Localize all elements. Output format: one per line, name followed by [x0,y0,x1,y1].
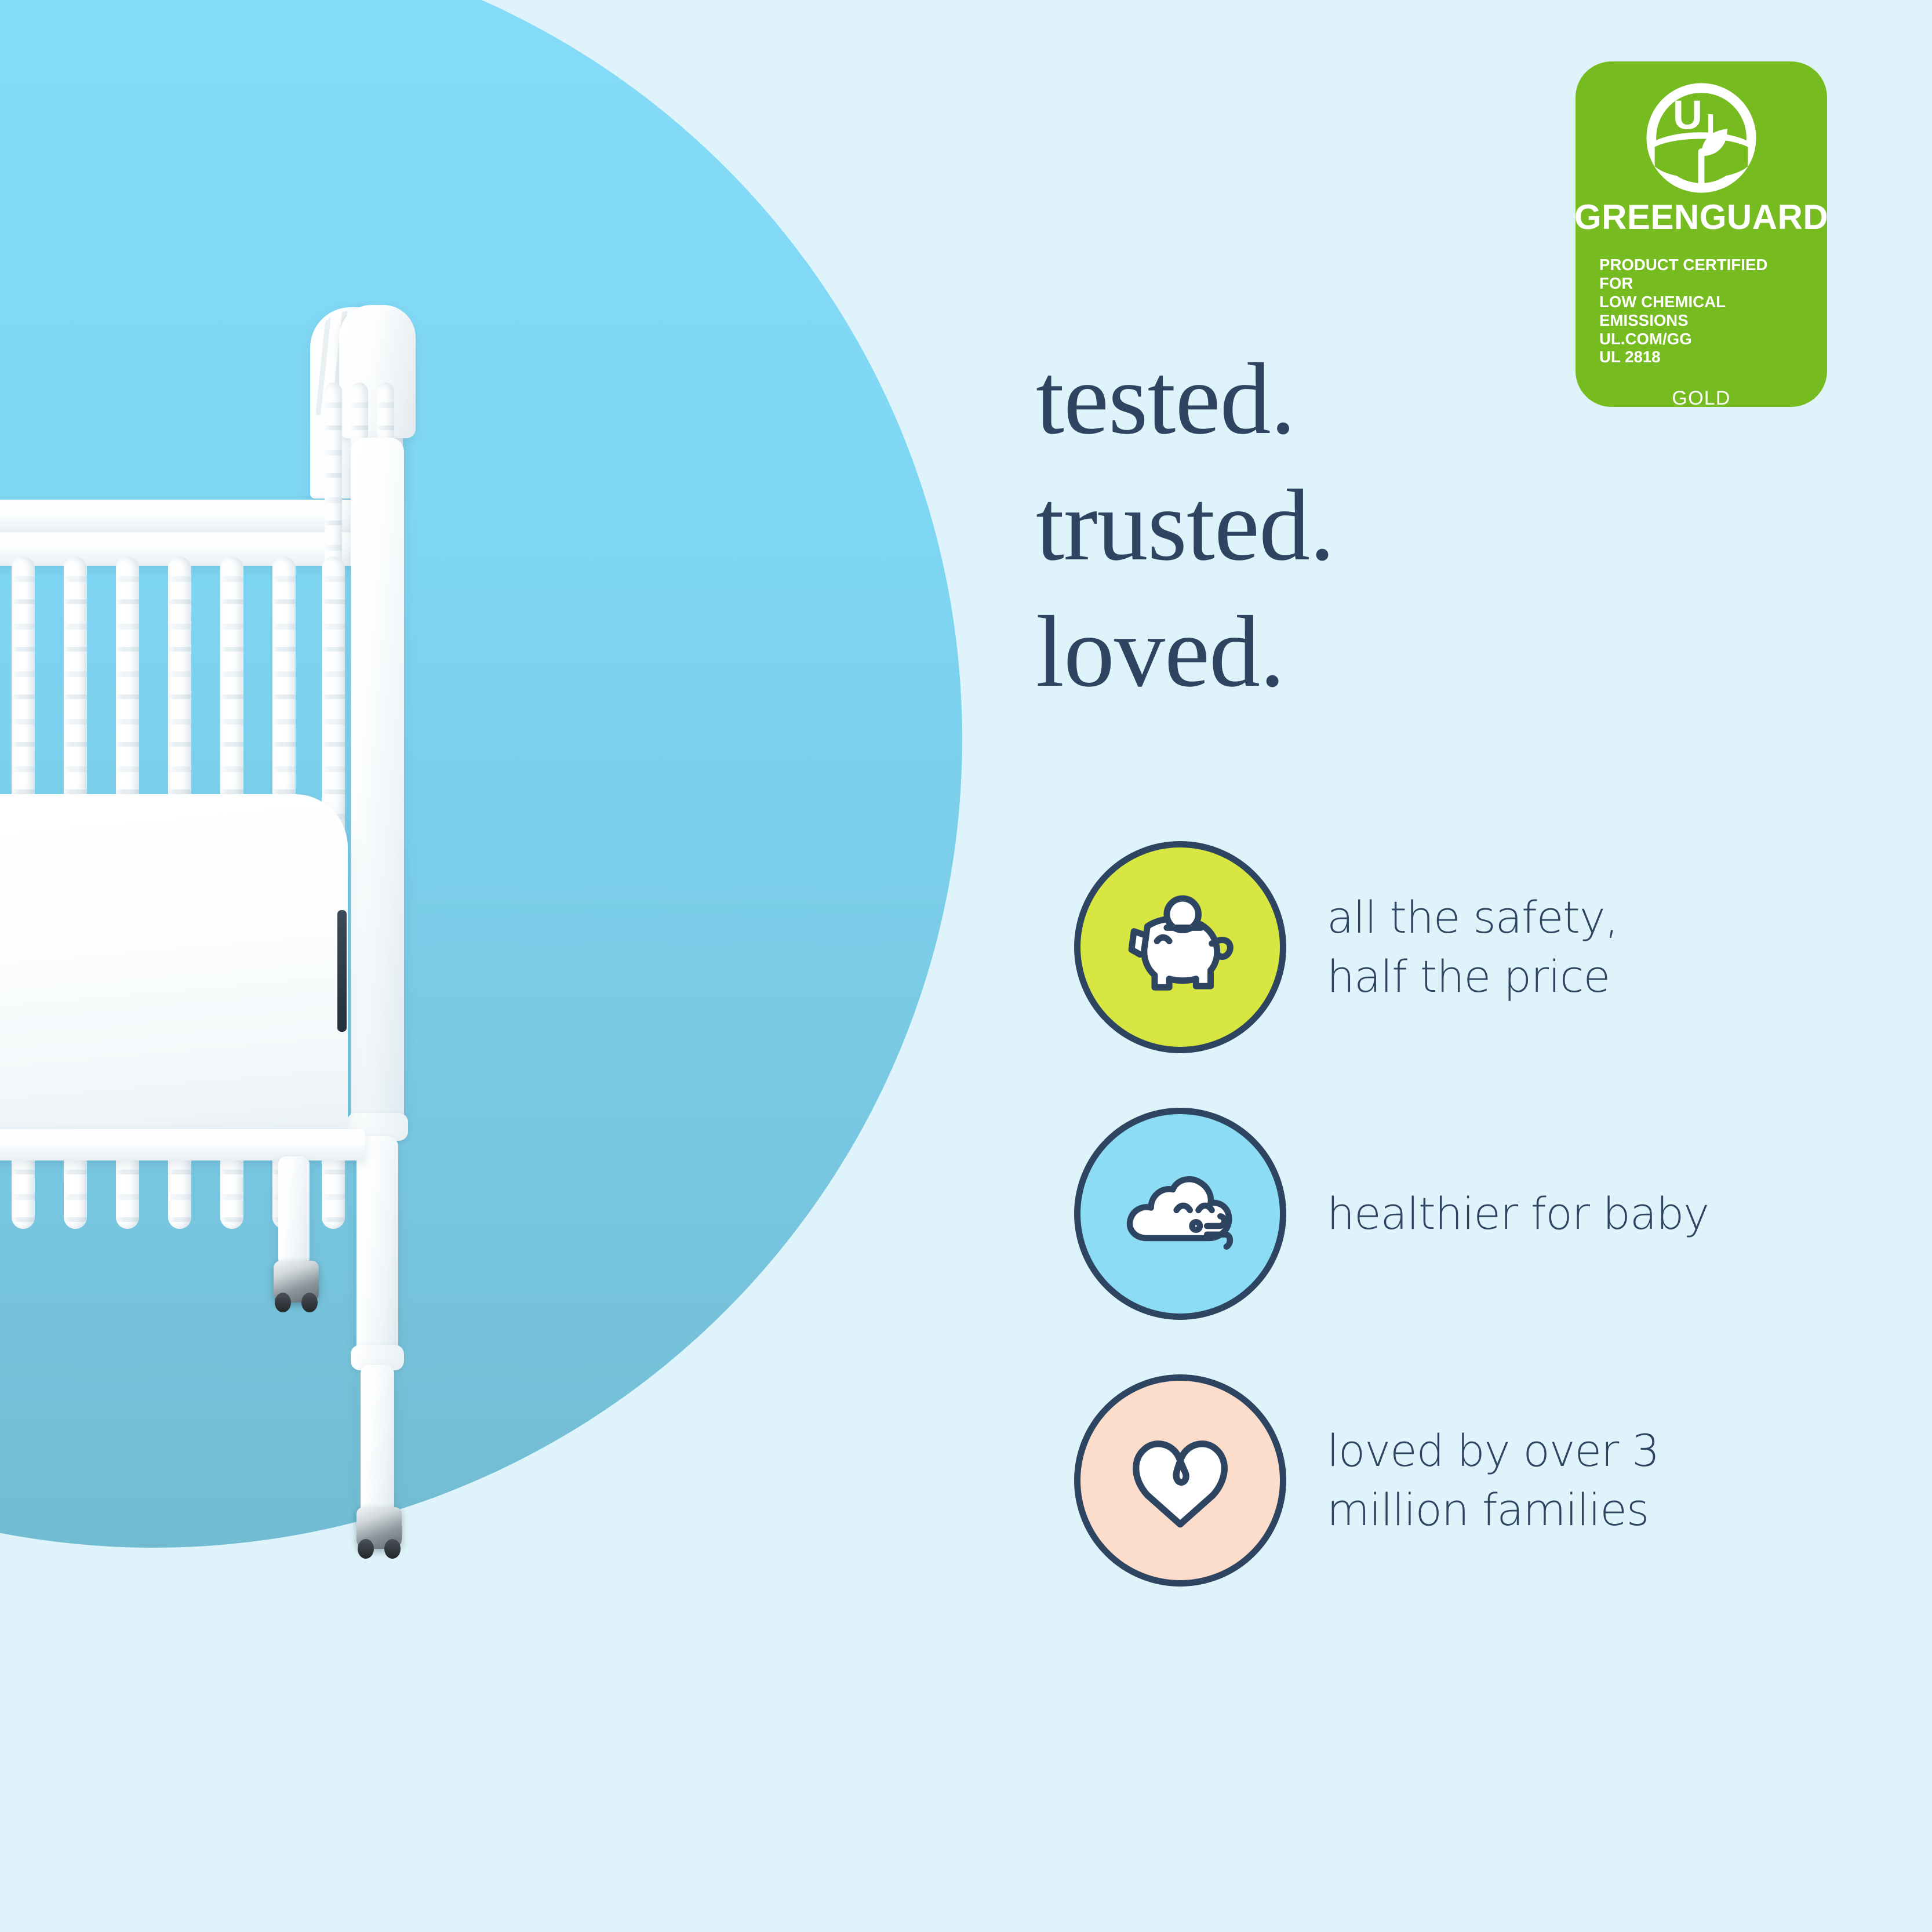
badge-line-4: UL 2818 [1599,348,1803,366]
headline-line-1: tested. [1036,336,1334,463]
crib-bottom-rail [0,1129,365,1160]
page-title: tested. trusted. loved. [1036,336,1334,716]
crib-product-image [0,313,835,1739]
crib-corner-post-foot [361,1365,394,1516]
feature-label: healthier for baby [1327,1184,1709,1243]
feature-label-line-1: loved by over 3 [1327,1421,1659,1480]
happy-cloud-icon [1107,1141,1253,1287]
feature-label-line-2: half the price [1327,947,1618,1006]
headline-line-2: trusted. [1036,463,1334,589]
badge-certification-text: PRODUCT CERTIFIED FOR LOW CHEMICAL EMISS… [1599,256,1803,366]
svg-text:U: U [1673,92,1702,137]
crib-mattress [0,794,348,1136]
badge-line-3: UL.COM/GG [1599,330,1803,348]
feature-icon-badge [1074,1374,1286,1587]
feature-label: all the safety, half the price [1327,888,1618,1006]
greenguard-badge: U L GREENGUARD PRODUCT CERTIFIED FOR LOW… [1576,61,1827,407]
feature-label-line-2: million families [1327,1480,1659,1540]
crib-sheet-clip [337,910,347,1032]
crib-front-leg [278,1156,310,1267]
crib-top-rail [0,500,365,534]
headline-line-3: loved. [1036,589,1334,715]
poster-canvas: U L GREENGUARD PRODUCT CERTIFIED FOR LOW… [0,0,1932,1932]
feature-item: healthier for baby [1074,1098,1886,1330]
feature-label-line-1: all the safety, [1327,888,1618,947]
ul-logo-icon: U L [1644,81,1758,195]
crib-caster-wheel [356,1507,402,1549]
feature-list: all the safety, half the price [1074,831,1886,1631]
feature-item: all the safety, half the price [1074,831,1886,1063]
feature-item: loved by over 3 million families [1074,1365,1886,1596]
badge-brand-name: GREENGUARD [1574,197,1828,237]
badge-line-1: PRODUCT CERTIFIED FOR [1599,256,1803,293]
feature-label-line-1: healthier for baby [1327,1184,1709,1243]
badge-level: GOLD [1672,387,1730,410]
crib-corner-post-lower [356,1136,398,1356]
crib-caster-wheel [274,1261,319,1302]
crib-corner-post [351,438,404,1133]
badge-line-2: LOW CHEMICAL EMISSIONS [1599,293,1803,330]
piggy-bank-icon [1107,874,1253,1020]
feature-icon-badge [1074,841,1286,1053]
feature-icon-badge [1074,1108,1286,1320]
heart-icon [1107,1407,1253,1553]
feature-label: loved by over 3 million families [1327,1421,1659,1540]
